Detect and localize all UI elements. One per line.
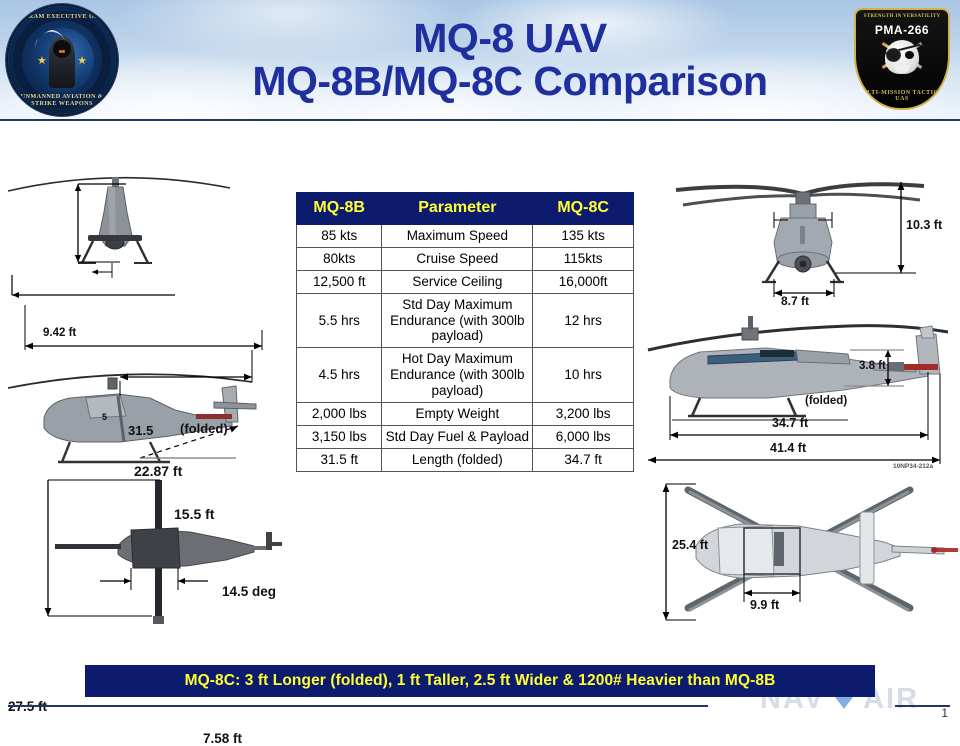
mq8c-drawing-svg (648, 160, 960, 655)
cell-parameter: Maximum Speed (382, 224, 533, 247)
skull-socket-right-icon (905, 51, 914, 59)
label-folded-left: (folded) (180, 421, 228, 436)
slide-header: PROGRAM EXECUTIVE OFFICE UNMANNED AVIATI… (0, 0, 960, 120)
shield-top-label: STRENGTH IN VERSATILITY (856, 14, 948, 19)
cell-mq8c: 135 kts (533, 224, 634, 247)
table-row: 12,500 ft Service Ceiling 16,000ft (297, 270, 634, 293)
shield-bottom-label: MULTI-MISSION TACTICAL UAS (856, 90, 948, 102)
slide-title: MQ-8 UAV MQ-8B/MQ-8C Comparison (190, 6, 830, 114)
cell-parameter: Std Day Fuel & Payload (382, 426, 533, 449)
cell-mq8b: 12,500 ft (297, 270, 382, 293)
cell-mq8b: 80kts (297, 247, 382, 270)
table-row: 4.5 hrs Hot Day Maximum Endurance (with … (297, 348, 634, 403)
page-number: 1 (941, 706, 948, 720)
comparison-table: MQ-8B Parameter MQ-8C 85 kts Maximum Spe… (296, 192, 634, 472)
title-line-2: MQ-8B/MQ-8C Comparison (252, 60, 767, 103)
slide-root: PROGRAM EXECUTIVE OFFICE UNMANNED AVIATI… (0, 0, 960, 720)
dim-fuselage-15-5ft: 15.5 ft (174, 506, 214, 522)
dim-skid-5: 5 (102, 412, 107, 422)
cell-mq8c: 12 hrs (533, 293, 634, 348)
table-row: 5.5 hrs Std Day Maximum Endurance (with … (297, 293, 634, 348)
table-col-header-mq8c: MQ-8C (533, 193, 634, 225)
skull-jaw-icon (895, 65, 910, 73)
cell-mq8c: 115kts (533, 247, 634, 270)
table-header-row: MQ-8B Parameter MQ-8C (297, 193, 634, 225)
dim-rotor-diameter-22-87ft: 22.87 ft (134, 463, 182, 479)
cell-mq8c: 3,200 lbs (533, 403, 634, 426)
shield-designation-label: PMA-266 (856, 23, 948, 37)
dim-body-width-7-58ft: 7.58 ft (203, 731, 242, 746)
footer-divider-left (8, 705, 708, 707)
pma-266-shield-logo: STRENGTH IN VERSATILITY PMA-266 MULTI-MI… (848, 4, 952, 114)
summary-banner-text: MQ-8C: 3 ft Longer (folded), 1 ft Taller… (185, 672, 776, 690)
mq8b-drawing-group: 9.42 ft 5 31.5 (folded) 22.87 ft 15.5 ft… (0, 150, 290, 650)
dim-front-height-9-42ft: 9.42 ft (43, 327, 76, 339)
dim-tail-angle-14-5deg: 14.5 deg (222, 584, 276, 599)
dim-body-width-9-9ft: 9.9 ft (750, 598, 779, 612)
star-left-icon: ★ (37, 56, 47, 67)
cell-parameter: Cruise Speed (382, 247, 533, 270)
cell-parameter: Length (folded) (382, 449, 533, 472)
table-row: 3,150 lbs Std Day Fuel & Payload 6,000 l… (297, 426, 634, 449)
cell-mq8b: 4.5 hrs (297, 348, 382, 403)
cell-parameter: Service Ceiling (382, 270, 533, 293)
dim-tail-height-3-8ft: 3.8 ft (859, 360, 886, 372)
table-body: 85 kts Maximum Speed 135 kts 80kts Cruis… (297, 224, 634, 471)
table-row: 80kts Cruise Speed 115kts (297, 247, 634, 270)
shield-icon: STRENGTH IN VERSATILITY PMA-266 MULTI-MI… (854, 8, 950, 110)
dim-height-10-3ft: 10.3 ft (906, 218, 942, 232)
cell-mq8b: 85 kts (297, 224, 382, 247)
star-right-icon: ★ (77, 56, 87, 67)
cell-parameter: Hot Day Maximum Endurance (with 300lb pa… (382, 348, 533, 403)
dim-rotor-span-25-4ft: 25.4 ft (672, 538, 708, 552)
seal-inner-disc: ★ ★ (30, 28, 94, 92)
dim-folded-length-34-7ft: 34.7 ft (772, 416, 808, 430)
summary-banner: MQ-8C: 3 ft Longer (folded), 1 ft Taller… (85, 665, 875, 697)
seal-arc-bottom-label: UNMANNED AVIATION & STRIKE WEAPONS (8, 93, 116, 107)
reaper-eye-right-icon (62, 50, 65, 53)
table-row: 31.5 ft Length (folded) 34.7 ft (297, 449, 634, 472)
cell-mq8c: 6,000 lbs (533, 426, 634, 449)
cell-mq8b: 2,000 lbs (297, 403, 382, 426)
eyepatch-icon (886, 48, 901, 62)
cell-mq8b: 31.5 ft (297, 449, 382, 472)
cell-parameter: Empty Weight (382, 403, 533, 426)
dim-folded-length-31-5: 31.5 (128, 423, 153, 438)
label-folded-right: (folded) (805, 395, 847, 407)
table-col-header-parameter: Parameter (382, 193, 533, 225)
cell-mq8c: 16,000ft (533, 270, 634, 293)
peo-uas-seal-logo: PROGRAM EXECUTIVE OFFICE UNMANNED AVIATI… (8, 6, 116, 114)
seal-arc-top-label: PROGRAM EXECUTIVE OFFICE (8, 13, 116, 20)
dim-overall-length-41-4ft: 41.4 ft (770, 441, 806, 455)
mq8b-drawing-svg (0, 150, 290, 650)
table-col-header-mq8b: MQ-8B (297, 193, 382, 225)
drawing-watermark: 10NP34-212a (893, 463, 933, 470)
cell-mq8c: 10 hrs (533, 348, 634, 403)
table-row: 85 kts Maximum Speed 135 kts (297, 224, 634, 247)
title-line-1: MQ-8 UAV (413, 17, 606, 60)
header-divider (0, 119, 960, 121)
cell-mq8b: 3,150 lbs (297, 426, 382, 449)
table-row: 2,000 lbs Empty Weight 3,200 lbs (297, 403, 634, 426)
skull-icon (885, 40, 919, 74)
dim-skid-width-8-7ft: 8.7 ft (781, 294, 809, 308)
mq8c-drawing-group: 10.3 ft 8.7 ft (folded) 3.8 ft 34.7 ft 4… (648, 160, 960, 655)
cell-mq8b: 5.5 hrs (297, 293, 382, 348)
cell-mq8c: 34.7 ft (533, 449, 634, 472)
cell-parameter: Std Day Maximum Endurance (with 300lb pa… (382, 293, 533, 348)
